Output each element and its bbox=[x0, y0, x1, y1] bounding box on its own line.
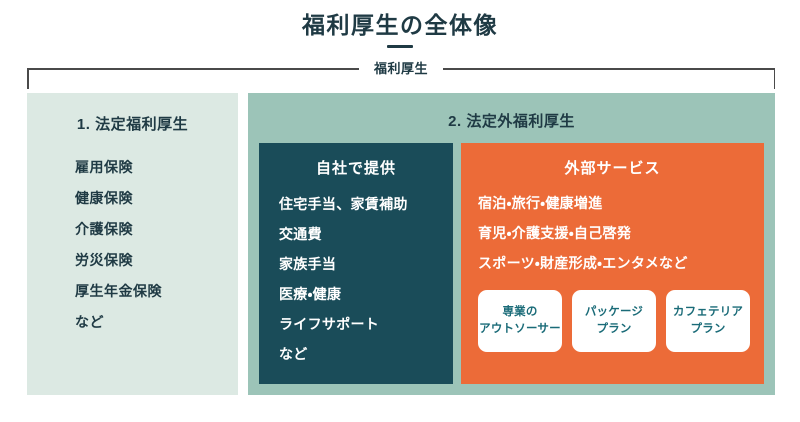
list-item: 住宅手当、家賃補助 bbox=[279, 197, 453, 211]
bracket-line-right bbox=[443, 68, 775, 70]
page-title-block: 福利厚生の全体像 bbox=[0, 12, 800, 48]
list-item: など bbox=[75, 315, 238, 329]
bracket-tick-left bbox=[27, 68, 29, 89]
card-line-2: プラン bbox=[690, 321, 725, 338]
panels-row: 1. 法定福利厚生 雇用保険 健康保険 介護保険 労災保険 厚生年金保険 など … bbox=[27, 93, 775, 395]
list-item: 健康保険 bbox=[75, 191, 238, 205]
list-item: 医療・健康 bbox=[279, 287, 453, 301]
card-line-1: 専業の bbox=[502, 304, 537, 321]
scope-bracket: 福利厚生 bbox=[27, 68, 775, 90]
infographic-root: 福利厚生の全体像 福利厚生 1. 法定福利厚生 雇用保険 健康保険 介護保険 労… bbox=[0, 0, 800, 422]
panel-non-legal-benefits: 2. 法定外福利厚生 自社で提供 住宅手当、家賃補助 交通費 家族手当 医療・健… bbox=[248, 93, 775, 395]
subpanel-inhouse-item-list: 住宅手当、家賃補助 交通費 家族手当 医療・健康 ライフサポート など bbox=[259, 197, 453, 361]
list-item: 家族手当 bbox=[279, 257, 453, 271]
external-service-cards: 専業の アウトソーサー パッケージ プラン カフェテリア プラン bbox=[461, 286, 764, 352]
list-item: 厚生年金保険 bbox=[75, 284, 238, 298]
list-item: 宿泊・旅行・健康増進 bbox=[478, 196, 764, 210]
card-line-2: プラン bbox=[596, 321, 631, 338]
card-line-1: カフェテリア bbox=[673, 304, 743, 321]
subpanel-inhouse: 自社で提供 住宅手当、家賃補助 交通費 家族手当 医療・健康 ライフサポート な… bbox=[259, 143, 453, 384]
list-item: 雇用保険 bbox=[75, 160, 238, 174]
sub-panels-row: 自社で提供 住宅手当、家賃補助 交通費 家族手当 医療・健康 ライフサポート な… bbox=[259, 143, 764, 384]
title-underline-decoration bbox=[387, 45, 413, 48]
list-item: 育児・介護支援・自己啓発 bbox=[478, 226, 764, 240]
list-item: 労災保険 bbox=[75, 253, 238, 267]
list-item: スポーツ・財産形成・エンタメなど bbox=[478, 256, 764, 270]
service-card-outsourcer: 専業の アウトソーサー bbox=[478, 290, 562, 352]
subpanel-external-item-list: 宿泊・旅行・健康増進 育児・介護支援・自己啓発 スポーツ・財産形成・エンタメなど bbox=[461, 196, 764, 286]
page-title: 福利厚生の全体像 bbox=[0, 12, 800, 40]
bracket-tick-right bbox=[774, 68, 776, 89]
panel-legal-benefits: 1. 法定福利厚生 雇用保険 健康保険 介護保険 労災保険 厚生年金保険 など bbox=[27, 93, 238, 395]
panel-non-legal-heading: 2. 法定外福利厚生 bbox=[259, 110, 764, 131]
bracket-label: 福利厚生 bbox=[362, 58, 440, 77]
service-card-cafeteria-plan: カフェテリア プラン bbox=[666, 290, 750, 352]
subpanel-inhouse-heading: 自社で提供 bbox=[259, 157, 453, 178]
panel-legal-heading: 1. 法定福利厚生 bbox=[27, 113, 238, 134]
subpanel-external-heading: 外部サービス bbox=[461, 157, 764, 178]
list-item: など bbox=[279, 347, 453, 361]
list-item: ライフサポート bbox=[279, 317, 453, 331]
list-item: 交通費 bbox=[279, 227, 453, 241]
service-card-package-plan: パッケージ プラン bbox=[572, 290, 656, 352]
bracket-line-left bbox=[27, 68, 359, 70]
card-line-2: アウトソーサー bbox=[479, 321, 561, 338]
card-line-1: パッケージ bbox=[585, 304, 643, 321]
panel-legal-item-list: 雇用保険 健康保険 介護保険 労災保険 厚生年金保険 など bbox=[27, 160, 238, 329]
subpanel-external-services: 外部サービス 宿泊・旅行・健康増進 育児・介護支援・自己啓発 スポーツ・財産形成… bbox=[461, 143, 764, 384]
list-item: 介護保険 bbox=[75, 222, 238, 236]
